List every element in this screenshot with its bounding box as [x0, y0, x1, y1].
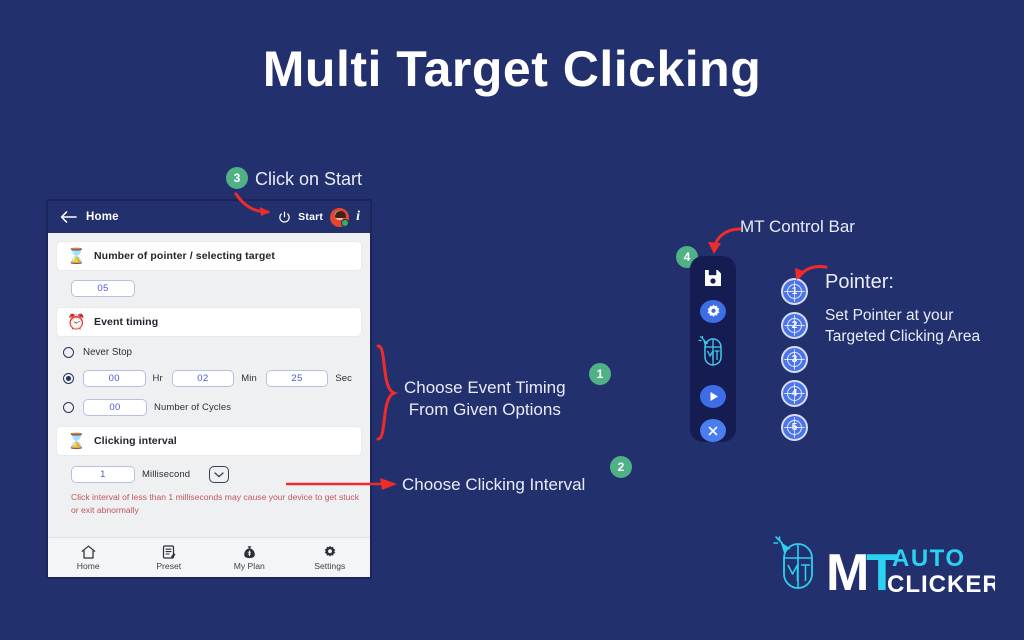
mt-control-bar	[690, 256, 736, 442]
pointer-description-line2: Targeted Clicking Area	[825, 326, 980, 347]
app-bar-actions: Start i	[278, 201, 360, 233]
nav-item-preset[interactable]: Preset	[129, 538, 210, 577]
annotation-choose-event-timing: Choose Event Timing From Given Options	[404, 377, 566, 421]
phone-mockup: Home Start i ⌛ Number of pointer / selec…	[46, 199, 372, 579]
cycles-label: Number of Cycles	[154, 402, 231, 413]
save-floppy-icon	[702, 267, 724, 289]
nav-item-home[interactable]: Home	[48, 538, 129, 577]
preset-document-icon	[162, 545, 176, 559]
badge-1: 1	[589, 363, 611, 385]
nav-item-settings[interactable]: Settings	[290, 538, 371, 577]
cycles-input[interactable]: 00	[83, 399, 147, 416]
control-save-button[interactable]	[700, 266, 726, 289]
hours-input[interactable]: 00	[83, 370, 146, 387]
hourglass-icon: ⌛	[67, 434, 84, 449]
annotation-choose-clicking-interval: Choose Clicking Interval	[402, 474, 585, 496]
logo-artwork: M T AUTO CLICKER	[770, 534, 995, 600]
gear-icon	[323, 545, 337, 559]
gear-icon	[706, 304, 721, 319]
badge-3: 3	[226, 167, 248, 189]
control-mt-logo-button[interactable]	[696, 334, 730, 374]
seconds-input[interactable]: 25	[266, 370, 329, 387]
pointer-count-row: 05	[71, 280, 361, 297]
pointer-heading: Pointer:	[825, 271, 894, 293]
never-stop-option[interactable]: Never Stop	[63, 347, 361, 358]
section-label: Event timing	[94, 316, 158, 328]
brace-event-timing	[374, 344, 400, 442]
arrow-to-control-bar-icon	[706, 225, 752, 257]
nav-label: Settings	[314, 561, 345, 571]
annotation-click-on-start: Click on Start	[255, 168, 362, 190]
arrow-clicking-interval-icon	[285, 474, 400, 494]
duration-option[interactable]: 00 Hr 02 Min 25 Sec	[63, 370, 361, 387]
mt-auto-clicker-logo: M T AUTO CLICKER	[770, 534, 995, 600]
pointer-target-2[interactable]: 2	[781, 312, 808, 339]
page-title: Multi Target Clicking	[0, 40, 1024, 98]
section-number-of-pointer: ⌛ Number of pointer / selecting target	[57, 242, 361, 270]
control-close-button[interactable]	[700, 419, 726, 442]
section-clicking-interval: ⌛ Clicking interval	[57, 427, 361, 455]
pointer-description-line1: Set Pointer at your	[825, 305, 953, 326]
radio-cycles[interactable]	[63, 402, 74, 413]
bottom-nav: Home Preset My Plan	[48, 537, 370, 577]
home-icon	[81, 545, 96, 559]
pointer-target-4[interactable]: 4	[781, 380, 808, 407]
pointer-target-5[interactable]: 5	[781, 414, 808, 441]
never-stop-label: Never Stop	[83, 347, 132, 358]
close-x-icon	[707, 425, 719, 437]
section-label: Number of pointer / selecting target	[94, 250, 275, 262]
pointer-target-3[interactable]: 3	[781, 346, 808, 373]
hourglass-icon: ⌛	[67, 249, 84, 264]
minutes-unit-label: Min	[241, 373, 257, 384]
pointer-count-input[interactable]: 05	[71, 280, 135, 297]
nav-label: Home	[77, 561, 100, 571]
alarm-clock-icon: ⏰	[67, 315, 84, 330]
app-bar: Home Start i	[48, 201, 370, 233]
phone-content: ⌛ Number of pointer / selecting target 0…	[48, 233, 370, 543]
control-play-button[interactable]	[700, 385, 726, 408]
cycles-option[interactable]: 00 Number of Cycles	[63, 399, 361, 416]
interval-unit-dropdown[interactable]	[209, 466, 229, 483]
pointer-number: 1	[792, 286, 798, 297]
interval-value-input[interactable]: 1	[71, 466, 135, 483]
radio-never-stop[interactable]	[63, 347, 74, 358]
nav-item-my-plan[interactable]: My Plan	[209, 538, 290, 577]
control-settings-button[interactable]	[700, 300, 726, 323]
logo-m: M	[826, 544, 869, 600]
nav-label: Preset	[156, 561, 181, 571]
annotation-mt-control-bar: MT Control Bar	[740, 216, 855, 238]
section-event-timing: ⏰ Event timing	[57, 308, 361, 336]
interval-warning-text: Click interval of less than 1 millisecon…	[71, 491, 361, 517]
logo-clicker: CLICKER	[887, 571, 995, 598]
minutes-input[interactable]: 02	[172, 370, 235, 387]
pointer-number: 4	[792, 388, 798, 399]
hours-unit-label: Hr	[153, 373, 163, 384]
money-bag-icon	[243, 545, 256, 559]
section-label: Clicking interval	[94, 435, 177, 447]
arrow-left-icon[interactable]	[60, 211, 77, 223]
pointer-number: 5	[792, 422, 798, 433]
logo-auto: AUTO	[892, 545, 966, 572]
mt-mouse-logo-icon	[696, 334, 730, 374]
pointer-number: 3	[792, 354, 798, 365]
avatar[interactable]	[330, 208, 349, 227]
seconds-unit-label: Sec	[335, 373, 352, 384]
start-button[interactable]: Start	[298, 211, 323, 223]
arrow-to-start-icon	[232, 190, 282, 222]
interval-unit-label: Millisecond	[142, 469, 190, 480]
pointer-number: 2	[792, 320, 798, 331]
info-icon[interactable]: i	[356, 209, 360, 225]
badge-2: 2	[610, 456, 632, 478]
mt-mouse-logo-icon	[774, 537, 812, 588]
app-bar-title: Home	[86, 211, 119, 223]
poster-canvas: Multi Target Clicking Home Start i ⌛	[0, 0, 1024, 640]
play-icon	[707, 390, 720, 403]
chevron-down-icon	[214, 472, 224, 478]
nav-label: My Plan	[234, 561, 265, 571]
radio-duration[interactable]	[63, 373, 74, 384]
